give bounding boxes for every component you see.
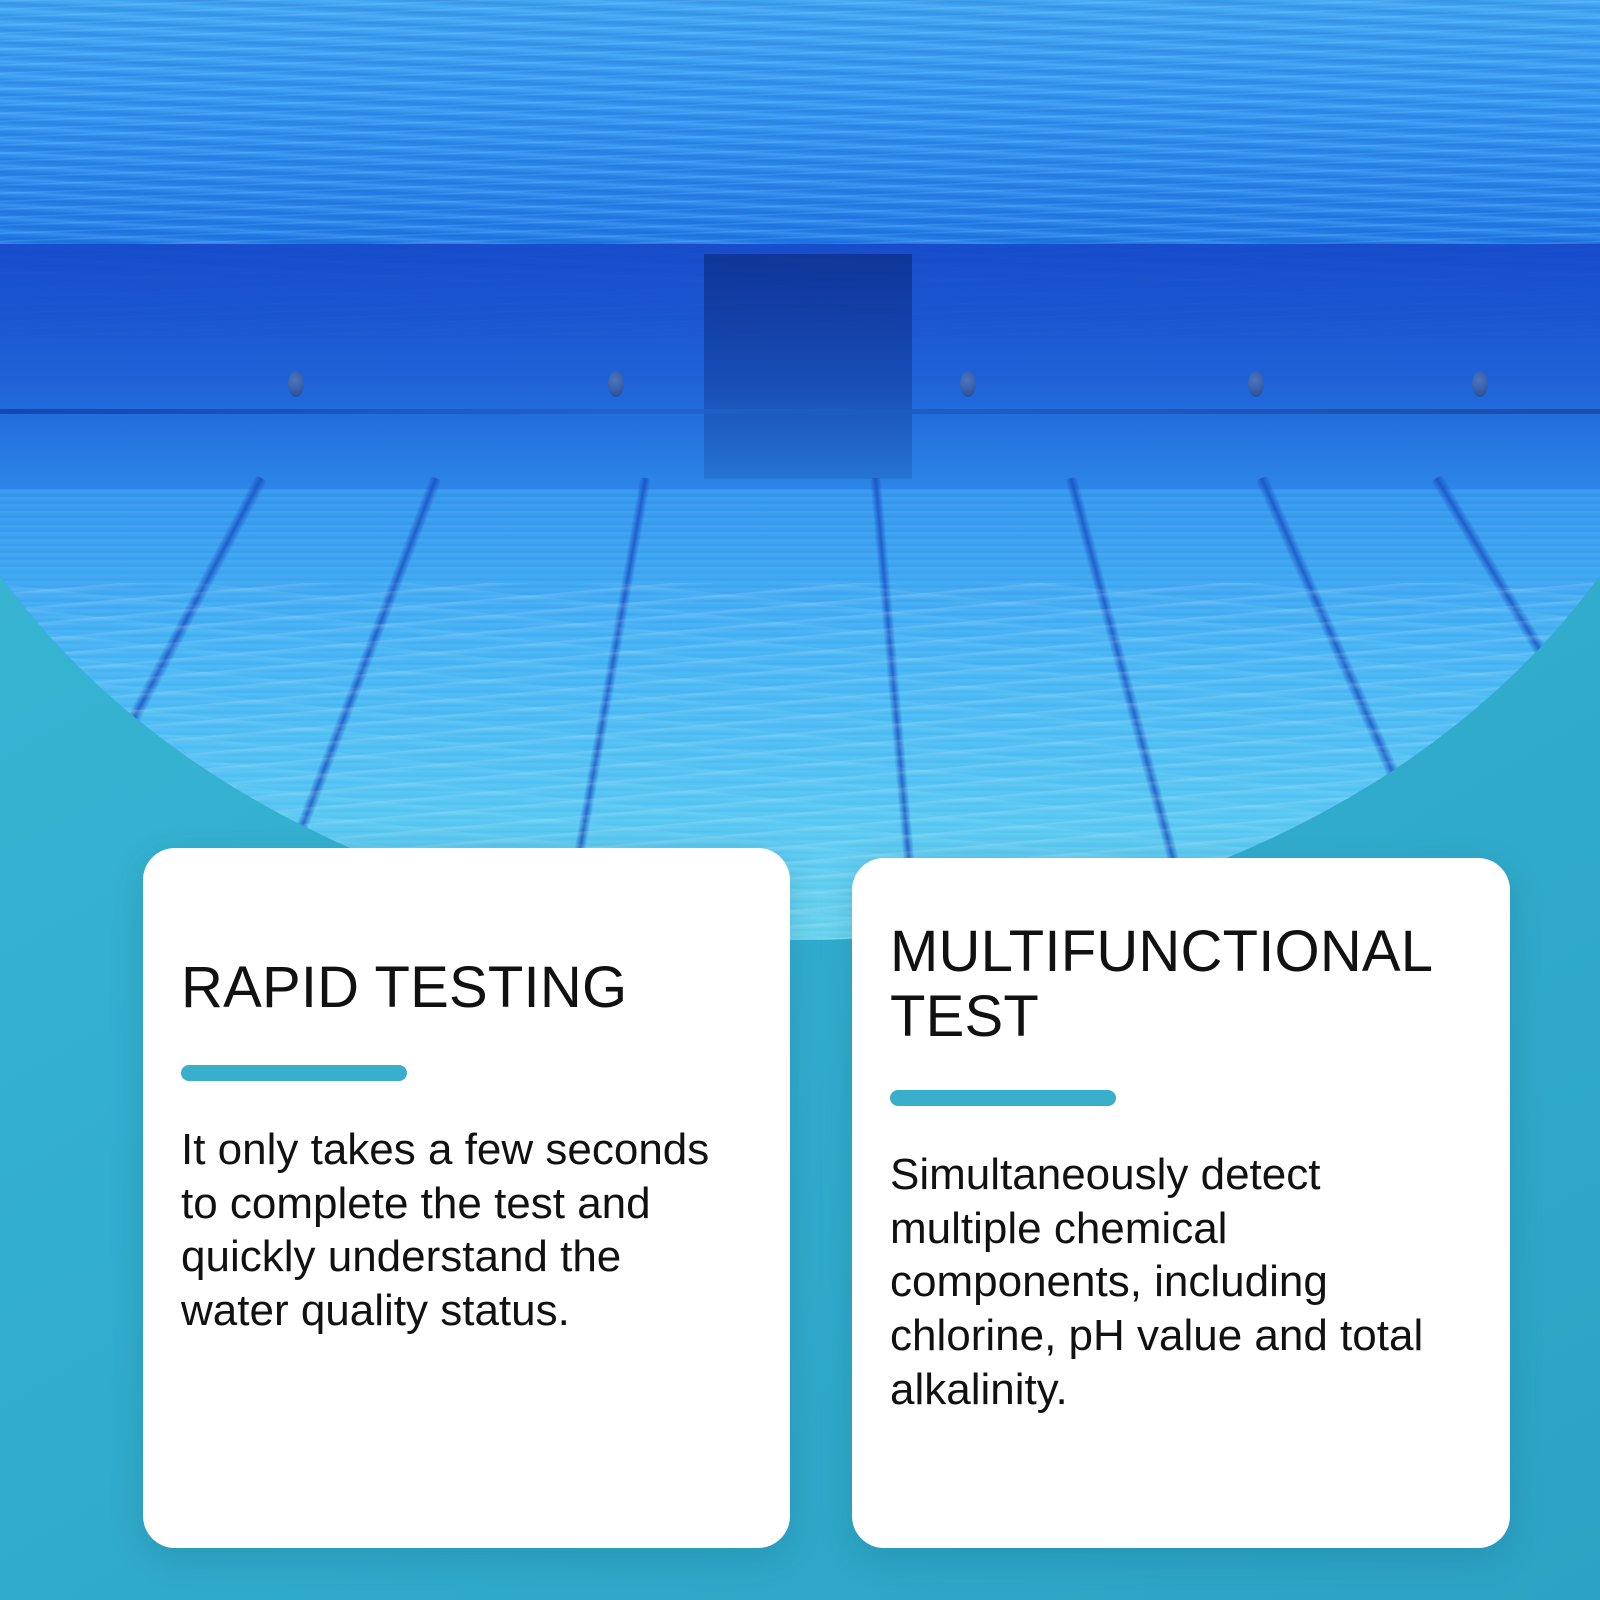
card-title: RAPID TESTING: [181, 956, 752, 1021]
card-body-text: It only takes a few seconds to complete …: [181, 1123, 741, 1338]
underwater-pool-photo: [0, 0, 1600, 940]
poster-canvas: RAPID TESTING It only takes a few second…: [0, 0, 1600, 1600]
card-body-text: Simultaneously detect multiple chemical …: [890, 1148, 1450, 1416]
card-rapid-testing[interactable]: RAPID TESTING It only takes a few second…: [143, 848, 790, 1548]
lane-rope-line: [0, 409, 1600, 414]
card-title: MULTIFUNCTIONAL TEST: [890, 920, 1472, 1050]
hero-ellipse-mask: [0, 0, 1600, 940]
accent-bar: [181, 1065, 407, 1081]
card-multifunctional-test[interactable]: MULTIFUNCTIONAL TEST Simultaneously dete…: [852, 858, 1510, 1548]
surface-ripples-secondary-icon: [0, 0, 1600, 282]
pool-wall-shadow: [704, 254, 912, 480]
accent-bar: [890, 1090, 1116, 1106]
feature-cards: RAPID TESTING It only takes a few second…: [143, 848, 1510, 1548]
